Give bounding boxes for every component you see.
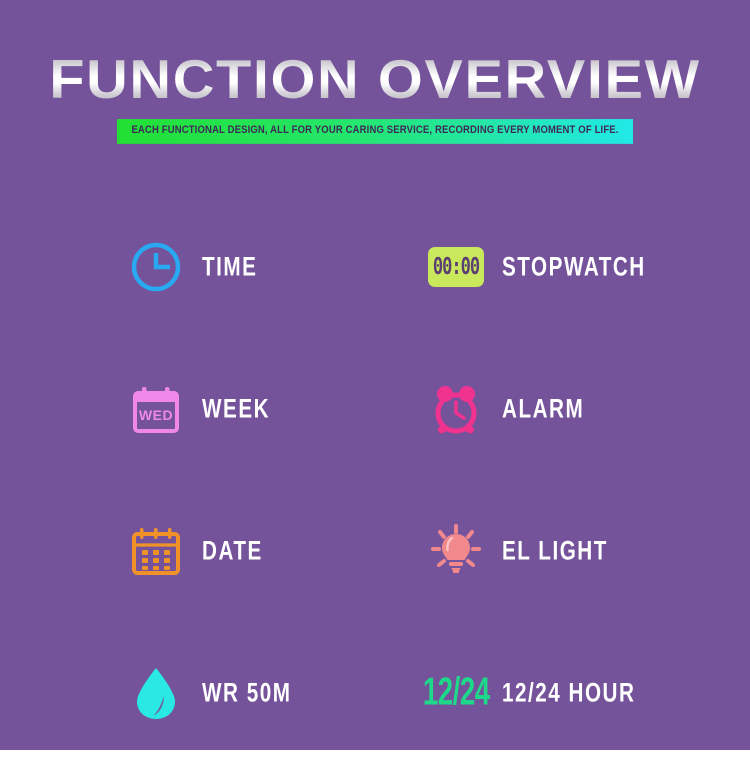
water-drop-icon: [128, 665, 184, 721]
feature-item-wr-50m: WR 50M: [128, 622, 428, 764]
feature-item-stopwatch: 00:00 STOPWATCH: [428, 196, 658, 338]
twelve-twentyfour-icon-text: 12/24: [423, 671, 490, 715]
page-title: FUNCTION OVERVIEW: [0, 52, 750, 107]
feature-label-12-24-hour: 12/24 HOUR: [502, 677, 635, 709]
feature-item-date: DATE: [128, 480, 428, 622]
stopwatch-digital-icon: 00:00: [428, 239, 484, 295]
poster-header: FUNCTION OVERVIEW EACH FUNCTIONAL DESIGN…: [0, 52, 750, 142]
function-overview-poster: FUNCTION OVERVIEW EACH FUNCTIONAL DESIGN…: [0, 0, 750, 750]
calendar-week-icon: WED: [128, 381, 184, 437]
twelve-twentyfour-icon: 12/24: [428, 665, 484, 721]
calendar-date-icon: [128, 523, 184, 579]
feature-grid: TIME 00:00 STOPWATCH WED WEE: [128, 196, 658, 764]
alarm-clock-icon: [428, 381, 484, 437]
subtitle-banner: EACH FUNCTIONAL DESIGN, ALL FOR YOUR CAR…: [117, 119, 632, 144]
feature-label-time: TIME: [202, 251, 257, 283]
feature-item-time: TIME: [128, 196, 428, 338]
subtitle-banner-wrap: EACH FUNCTIONAL DESIGN, ALL FOR YOUR CAR…: [0, 121, 750, 142]
clock-icon: [128, 239, 184, 295]
stopwatch-display-value: 00:00: [433, 254, 479, 281]
feature-item-12-24-hour: 12/24 12/24 HOUR: [428, 622, 658, 764]
feature-label-date: DATE: [202, 535, 263, 567]
feature-label-wr-50m: WR 50M: [202, 677, 291, 709]
feature-label-stopwatch: STOPWATCH: [502, 251, 646, 283]
lightbulb-icon: [428, 523, 484, 579]
feature-label-el-light: EL LIGHT: [502, 535, 608, 567]
feature-item-el-light: EL LIGHT: [428, 480, 658, 622]
feature-label-alarm: ALARM: [502, 393, 584, 425]
feature-item-alarm: ALARM: [428, 338, 658, 480]
svg-text:WED: WED: [139, 407, 173, 423]
feature-item-week: WED WEEK: [128, 338, 428, 480]
feature-label-week: WEEK: [202, 393, 270, 425]
